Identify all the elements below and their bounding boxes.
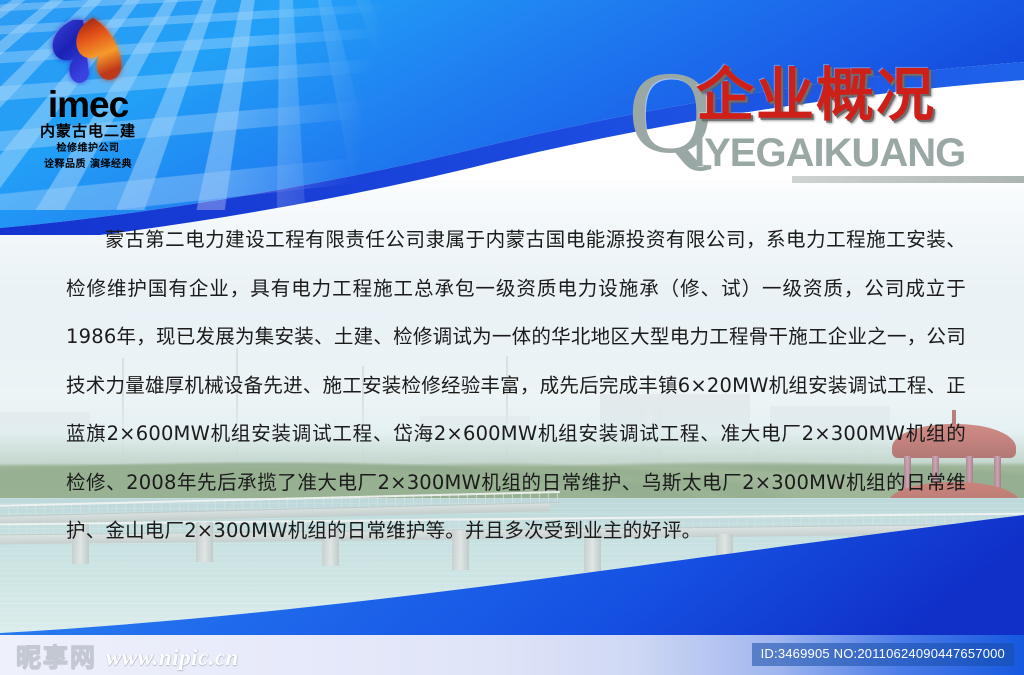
logo-slogan: 诠释品质 演绎经典: [26, 158, 150, 172]
company-logo: imec 内蒙古电二建 检修维护公司 诠释品质 演绎经典: [26, 14, 150, 164]
title-chinese: 企业概况: [696, 64, 936, 126]
imec-flame-logo-icon: [33, 14, 143, 86]
logo-division-name: 检修维护公司: [26, 142, 150, 156]
logo-company-name: 内蒙古电二建: [26, 123, 150, 140]
site-watermark: 昵享网 www.nipic.cn: [16, 644, 239, 671]
image-id-badge: ID:3469905 NO:20110624090447657000: [752, 643, 1014, 666]
title-pinyin: IYEGAIKUANG: [694, 132, 965, 174]
poster-canvas: imec 内蒙古电二建 检修维护公司 诠释品质 演绎经典 Q 企业概况 IYEG…: [0, 0, 1024, 675]
page-title: Q 企业概况 IYEGAIKUANG: [628, 58, 968, 178]
title-underline-bar: [792, 176, 1024, 183]
watermark-url: www.nipic.cn: [106, 645, 239, 670]
logo-brand-text: imec: [26, 87, 150, 123]
company-profile-paragraph: 蒙古第二电力建设工程有限责任公司隶属于内蒙古国电能源投资有限公司，系电力工程施工…: [66, 216, 966, 556]
watermark-chinese: 昵享网: [16, 644, 97, 671]
